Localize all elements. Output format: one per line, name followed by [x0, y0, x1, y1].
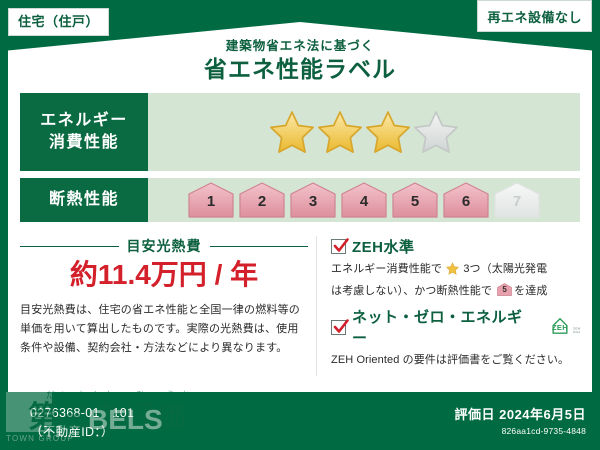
star-filled-icon — [269, 109, 315, 155]
net-zero-description: ZEH Oriented の要件は評価書をご覧ください。 — [331, 351, 580, 370]
house-level-number: 5 — [391, 194, 439, 209]
house-level-filled: 4 — [340, 182, 388, 218]
page-title: 省エネ性能ラベル — [0, 57, 600, 82]
energy-performance-label: エネルギー 消費性能 — [20, 93, 148, 171]
checkbox-checked-icon-2[interactable] — [331, 320, 346, 335]
footer: 0276368-01 101 （不動産ID：） 評価日 2024年6月5日 82… — [0, 392, 600, 450]
house-level-number: 2 — [238, 194, 286, 209]
energy-label-line1: エネルギー — [40, 110, 128, 132]
house-level-number: 4 — [340, 194, 388, 209]
zeh-desc-part1: エネルギー消費性能で — [331, 263, 442, 275]
house-level-number: 3 — [289, 194, 337, 209]
house-level-filled: 6 — [442, 182, 490, 218]
insulation-performance-label: 断熱性能 — [20, 178, 148, 222]
zeh-logo-icon: ZEH ZEH Oriented — [540, 313, 580, 341]
zeh-level-title-row: ZEH水準 — [331, 236, 580, 257]
main-card: エネルギー 消費性能 断熱性能 1234567 目安光熱費 — [8, 84, 592, 392]
energy-label-card: 住宅（住戸） 再エネ設備なし 建築物省エネ法に基づく 省エネ性能ラベル エネルギ… — [0, 0, 600, 450]
zeh-level-title: ZEH水準 — [352, 236, 415, 257]
svg-text:Oriented: Oriented — [573, 331, 580, 335]
zeh-level-description: エネルギー消費性能で 3つ（太陽光発電 は考慮しない）、かつ断熱性能で 5 — [331, 260, 580, 300]
house-level-filled: 2 — [238, 182, 286, 218]
rule-right — [210, 246, 309, 247]
insulation-performance-row: 断熱性能 1234567 — [20, 171, 580, 222]
header: 建築物省エネ法に基づく 省エネ性能ラベル — [0, 40, 600, 82]
utility-cost-value: 約11.4万円 / 年 — [20, 260, 308, 291]
badge-building-type: 住宅（住戸） — [8, 8, 109, 36]
net-zero-title: ネット・ゼロ・エネルギー — [352, 306, 532, 348]
house-level-number: 6 — [442, 194, 490, 209]
house-level-number: 1 — [187, 194, 235, 209]
house-level-filled: 5 — [391, 182, 439, 218]
energy-performance-row: エネルギー 消費性能 — [20, 84, 580, 171]
utility-cost-column: 目安光熱費 約11.4万円 / 年 目安光熱費は、住宅の省エネ性能と全国一律の燃… — [20, 236, 316, 376]
inline-badge-value: 5 — [497, 286, 512, 294]
header-subtitle: 建築物省エネ法に基づく — [0, 40, 600, 54]
zeh-desc-part3: を達成 — [514, 285, 547, 297]
checkbox-checked-icon[interactable] — [331, 239, 346, 254]
house-level-empty: 7 — [493, 182, 541, 218]
net-zero-title-row: ネット・ゼロ・エネルギー ZEH ZEH Oriented — [331, 306, 580, 348]
zeh-desc-star-count: 3つ（太陽光発電 — [463, 263, 547, 275]
footer-id-line: 0276368-01 101 — [30, 404, 134, 423]
utility-cost-heading: 目安光熱費 — [20, 236, 308, 256]
svg-text:ZEH: ZEH — [552, 323, 568, 332]
check-block-zeh-level: ZEH水準 エネルギー消費性能で 3つ（太陽光発電 は考慮しない）、かつ断熱性能… — [331, 236, 580, 300]
utility-cost-note: 目安光熱費は、住宅の省エネ性能と全国一律の燃料等の単価を用いて算出したものです。… — [20, 301, 308, 359]
star-filled-icon — [317, 109, 363, 155]
footer-evaluation-date: 評価日 2024年6月5日 — [455, 404, 587, 423]
insulation-performance-value: 1234567 — [148, 178, 580, 222]
footer-realestate-id: （不動産ID：） — [30, 423, 134, 442]
star-empty-icon — [413, 109, 459, 155]
utility-cost-heading-text: 目安光熱費 — [127, 236, 202, 256]
house-level-number: 7 — [493, 194, 541, 209]
star-filled-icon — [365, 109, 411, 155]
house-level-filled: 1 — [187, 182, 235, 218]
zeh-desc-part2: は考慮しない）、かつ断熱性能で — [331, 285, 492, 297]
energy-performance-value — [148, 93, 580, 171]
energy-label-line2: 消費性能 — [49, 132, 119, 154]
inline-house-badge-icon: 5 — [497, 283, 512, 296]
star-rating — [269, 109, 459, 155]
check-block-net-zero-energy: ネット・ゼロ・エネルギー ZEH ZEH Oriented ZEH Orient… — [331, 306, 580, 370]
footer-uuid: 826aa1cd-9735-4848 — [455, 426, 587, 436]
certification-column: ZEH水準 エネルギー消費性能で 3つ（太陽光発電 は考慮しない）、かつ断熱性能… — [316, 236, 580, 376]
footer-evaluation: 評価日 2024年6月5日 826aa1cd-9735-4848 — [455, 404, 587, 436]
rule-left — [20, 246, 119, 247]
house-level-filled: 3 — [289, 182, 337, 218]
house-rating-scale: 1234567 — [187, 182, 541, 218]
badge-renewable-energy: 再エネ設備なし — [477, 0, 592, 32]
inline-star-icon — [446, 266, 462, 278]
lower-section: 目安光熱費 約11.4万円 / 年 目安光熱費は、住宅の省エネ性能と全国一律の燃… — [20, 236, 580, 376]
footer-identifier: 0276368-01 101 （不動産ID：） — [30, 404, 134, 442]
